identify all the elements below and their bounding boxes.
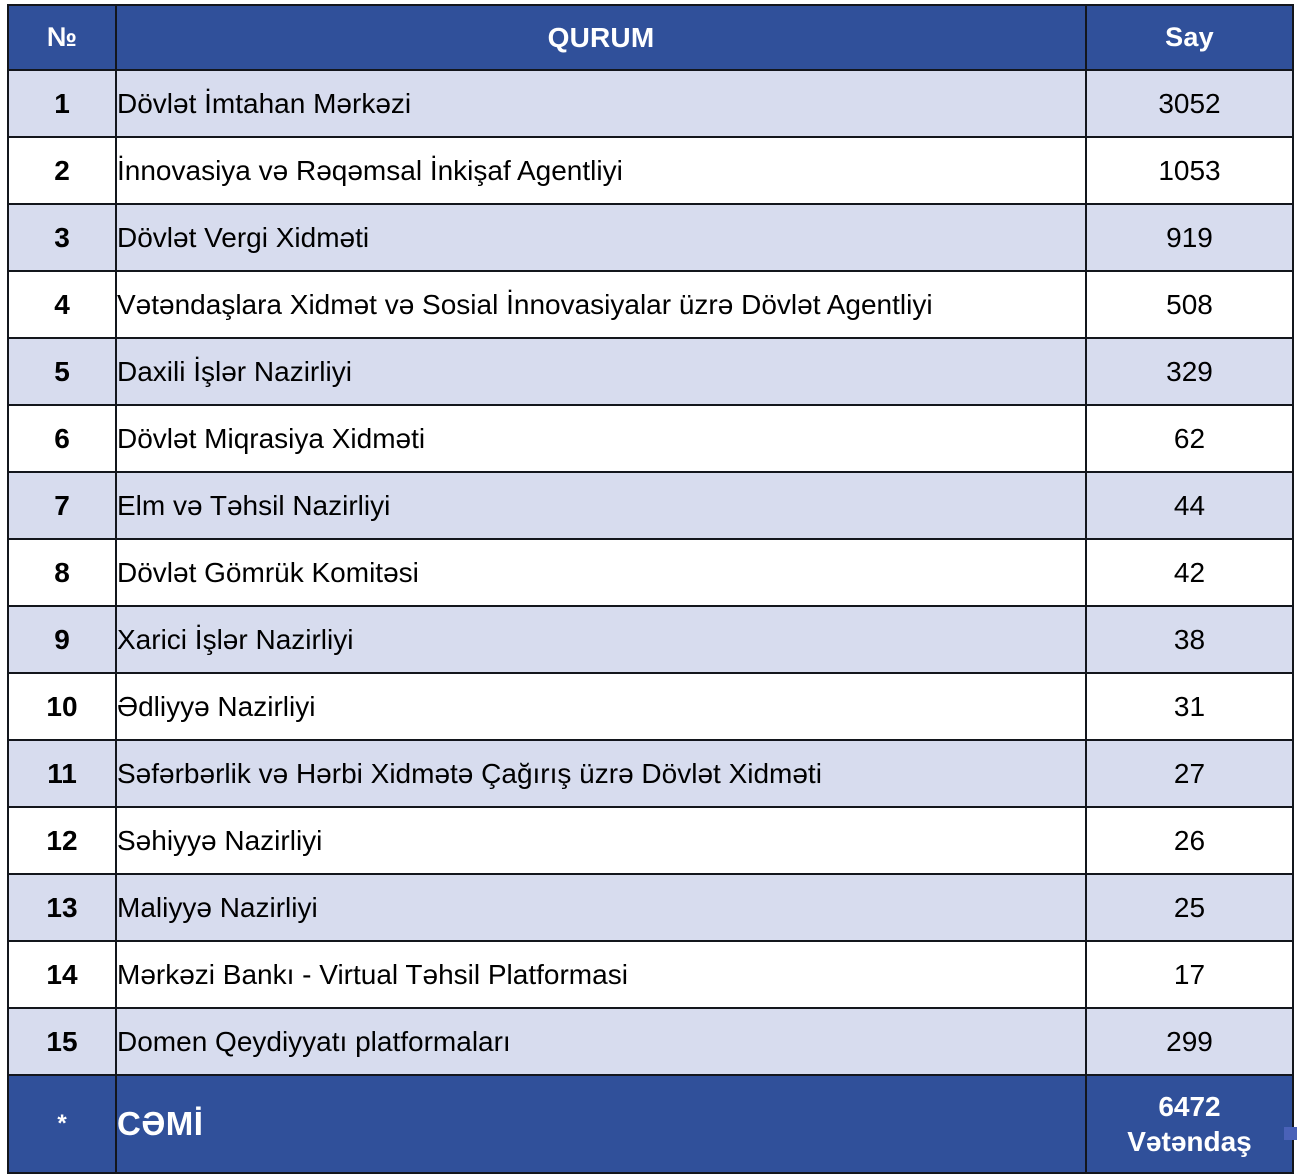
table-row[interactable]: 7 Elm və Təhsil Nazirliyi 44 bbox=[8, 472, 1293, 539]
table-row[interactable]: 6 Dövlət Miqrasiya Xidməti 62 bbox=[8, 405, 1293, 472]
count-value: 38 bbox=[1086, 606, 1293, 673]
count-value: 329 bbox=[1086, 338, 1293, 405]
column-header-no[interactable]: № bbox=[8, 5, 116, 70]
column-header-qurum[interactable]: QURUM bbox=[116, 5, 1086, 70]
row-number: 1 bbox=[8, 70, 116, 137]
total-label: CƏMİ bbox=[116, 1075, 1086, 1173]
count-value: 17 bbox=[1086, 941, 1293, 1008]
organization-name: Domen Qeydiyyatı platformaları bbox=[116, 1008, 1086, 1075]
count-value: 44 bbox=[1086, 472, 1293, 539]
organization-name: Dövlət Vergi Xidməti bbox=[116, 204, 1086, 271]
count-value: 31 bbox=[1086, 673, 1293, 740]
column-header-say[interactable]: Say bbox=[1086, 5, 1293, 70]
row-number: 8 bbox=[8, 539, 116, 606]
table-row[interactable]: 3 Dövlət Vergi Xidməti 919 bbox=[8, 204, 1293, 271]
organization-name: Dövlət Gömrük Komitəsi bbox=[116, 539, 1086, 606]
row-number: 15 bbox=[8, 1008, 116, 1075]
table-row[interactable]: 1 Dövlət İmtahan Mərkəzi 3052 bbox=[8, 70, 1293, 137]
total-count-unit: Vətəndaş bbox=[1087, 1124, 1292, 1159]
organization-name: Daxili İşlər Nazirliyi bbox=[116, 338, 1086, 405]
table-row[interactable]: 10 Ədliyyə Nazirliyi 31 bbox=[8, 673, 1293, 740]
count-value: 1053 bbox=[1086, 137, 1293, 204]
table-header: № QURUM Say bbox=[8, 5, 1293, 70]
organization-name: Səfərbərlik və Hərbi Xidmətə Çağırış üzr… bbox=[116, 740, 1086, 807]
total-count-number: 6472 bbox=[1087, 1089, 1292, 1124]
organization-name: Dövlət İmtahan Mərkəzi bbox=[116, 70, 1086, 137]
row-number: 10 bbox=[8, 673, 116, 740]
table-row[interactable]: 4 Vətəndaşlara Xidmət və Sosial İnnovasi… bbox=[8, 271, 1293, 338]
organization-name: Səhiyyə Nazirliyi bbox=[116, 807, 1086, 874]
table-row[interactable]: 13 Maliyyə Nazirliyi 25 bbox=[8, 874, 1293, 941]
total-row-marker: * bbox=[8, 1075, 116, 1173]
table-row[interactable]: 15 Domen Qeydiyyatı platformaları 299 bbox=[8, 1008, 1293, 1075]
row-number: 5 bbox=[8, 338, 116, 405]
organization-name: Elm və Təhsil Nazirliyi bbox=[116, 472, 1086, 539]
table-body: 1 Dövlət İmtahan Mərkəzi 3052 2 İnnovasi… bbox=[8, 70, 1293, 1075]
resize-handle-icon[interactable] bbox=[1284, 1127, 1297, 1140]
table-row[interactable]: 12 Səhiyyə Nazirliyi 26 bbox=[8, 807, 1293, 874]
spreadsheet-sheet: № QURUM Say 1 Dövlət İmtahan Mərkəzi 305… bbox=[0, 0, 1300, 1143]
count-value: 508 bbox=[1086, 271, 1293, 338]
table-row[interactable]: 11 Səfərbərlik və Hərbi Xidmətə Çağırış … bbox=[8, 740, 1293, 807]
row-number: 14 bbox=[8, 941, 116, 1008]
header-row: № QURUM Say bbox=[8, 5, 1293, 70]
count-value: 299 bbox=[1086, 1008, 1293, 1075]
count-value: 919 bbox=[1086, 204, 1293, 271]
count-value: 26 bbox=[1086, 807, 1293, 874]
organization-name: Vətəndaşlara Xidmət və Sosial İnnovasiya… bbox=[116, 271, 1086, 338]
organization-name: İnnovasiya və Rəqəmsal İnkişaf Agentliyi bbox=[116, 137, 1086, 204]
total-count-cell: 6472 Vətəndaş bbox=[1086, 1075, 1293, 1173]
row-number: 11 bbox=[8, 740, 116, 807]
count-value: 42 bbox=[1086, 539, 1293, 606]
row-number: 6 bbox=[8, 405, 116, 472]
count-value: 25 bbox=[1086, 874, 1293, 941]
table-row[interactable]: 14 Mərkəzi Bankı - Virtual Təhsil Platfo… bbox=[8, 941, 1293, 1008]
organization-name: Dövlət Miqrasiya Xidməti bbox=[116, 405, 1086, 472]
organization-name: Xarici İşlər Nazirliyi bbox=[116, 606, 1086, 673]
row-number: 3 bbox=[8, 204, 116, 271]
count-value: 27 bbox=[1086, 740, 1293, 807]
organization-name: Ədliyyə Nazirliyi bbox=[116, 673, 1086, 740]
row-number: 9 bbox=[8, 606, 116, 673]
row-number: 7 bbox=[8, 472, 116, 539]
organization-name: Mərkəzi Bankı - Virtual Təhsil Platforma… bbox=[116, 941, 1086, 1008]
count-value: 3052 bbox=[1086, 70, 1293, 137]
total-row[interactable]: * CƏMİ 6472 Vətəndaş bbox=[8, 1075, 1293, 1173]
row-number: 4 bbox=[8, 271, 116, 338]
table-row[interactable]: 9 Xarici İşlər Nazirliyi 38 bbox=[8, 606, 1293, 673]
table-row[interactable]: 8 Dövlət Gömrük Komitəsi 42 bbox=[8, 539, 1293, 606]
table-row[interactable]: 2 İnnovasiya və Rəqəmsal İnkişaf Agentli… bbox=[8, 137, 1293, 204]
row-number: 2 bbox=[8, 137, 116, 204]
organization-count-table: № QURUM Say 1 Dövlət İmtahan Mərkəzi 305… bbox=[7, 4, 1294, 1174]
table-row[interactable]: 5 Daxili İşlər Nazirliyi 329 bbox=[8, 338, 1293, 405]
row-number: 13 bbox=[8, 874, 116, 941]
table-footer: * CƏMİ 6472 Vətəndaş bbox=[8, 1075, 1293, 1173]
organization-name: Maliyyə Nazirliyi bbox=[116, 874, 1086, 941]
count-value: 62 bbox=[1086, 405, 1293, 472]
row-number: 12 bbox=[8, 807, 116, 874]
